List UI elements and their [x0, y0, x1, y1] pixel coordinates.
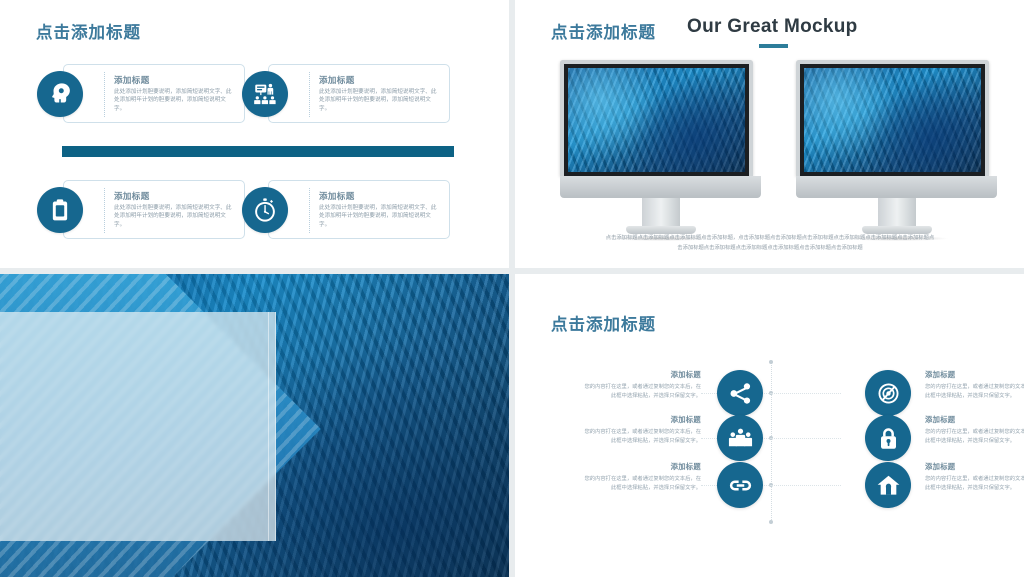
feature-card-body: 此处添加计划胆要说明，添加简短说明文字、此处添加明年计划的胆要说明，添加简短说明…: [114, 204, 236, 230]
monitor-stand-foot: [626, 226, 696, 234]
feature-card-body: 此处添加计划胆要说明，添加简短说明文字、此处添加明年计划的胆要说明，添加简短说明…: [114, 88, 236, 114]
feature-card-title: 添加标题: [319, 74, 441, 86]
monitor-chin: [560, 176, 761, 198]
desktop-monitor-right: [796, 60, 997, 241]
feature-card-1[interactable]: 添加标题 此处添加计划胆要说明，添加简短说明文字、此处添加明年计划的胆要说明，添…: [63, 64, 245, 123]
timeline-connector: [771, 438, 841, 439]
feature-card-title: 添加标题: [114, 190, 236, 202]
heading-underline: [759, 44, 788, 48]
head-idea-icon: [37, 71, 83, 117]
page-title: 点击添加标题: [551, 311, 656, 335]
card-divider: [309, 188, 310, 233]
monitor-screen-image: [568, 68, 745, 172]
feature-card-title: 添加标题: [319, 190, 441, 202]
page-title: 点击添加标题: [36, 19, 141, 43]
lock-icon[interactable]: [865, 415, 911, 461]
timeline-item-title: 添加标题: [925, 370, 1024, 380]
timeline-spine: [771, 362, 772, 522]
desktop-monitor-left: [560, 60, 761, 241]
monitor-stand-neck: [878, 198, 916, 226]
presentation-training-icon: [242, 71, 288, 117]
monitor-screen-image: [804, 68, 981, 172]
monitor-stand-foot: [862, 226, 932, 234]
clipboard-icon: [37, 187, 83, 233]
link-chain-icon[interactable]: [717, 462, 763, 508]
monitor-bezel: [796, 60, 989, 176]
feature-card-2[interactable]: 添加标题 此处添加计划胆要说明，添加简短说明文字、此处添加明年计划的胆要说明，添…: [268, 64, 450, 123]
target-icon[interactable]: [865, 370, 911, 416]
timeline-item-body: 您的内容打在这里，或者通过复制您的文本后，在此框中选择粘贴，并选择只保留文字。: [583, 475, 701, 493]
timeline-item-body: 您的内容打在这里，或者通过复制您的文本后，在此框中选择粘贴，并选择只保留文字。: [925, 428, 1024, 446]
card-divider: [309, 72, 310, 117]
timeline-item-body: 您的内容打在这里，或者通过复制您的文本后，在此框中选择粘贴，并选择只保留文字。: [583, 428, 701, 446]
mockup-heading: Our Great Mockup: [687, 16, 858, 38]
timeline-item-title: 添加标题: [583, 462, 701, 472]
slide-features: 点击添加标题 添加标题 此处添加计划胆要说明，添加简短说明文字、此处添加明年计划…: [0, 0, 509, 268]
timeline-item-2: 添加标题 您的内容打在这里，或者通过复制您的文本后，在此框中选择粘贴，并选择只保…: [925, 370, 1024, 401]
page-title: 点击添加标题: [551, 19, 656, 43]
slide-deck-grid: 点击添加标题 添加标题 此处添加计划胆要说明，添加简短说明文字、此处添加明年计划…: [0, 0, 1024, 577]
mockup-caption: 点击添加标题点击添加标题点击添加标题点击添加标题，点击添加标题点击添加标题点击添…: [605, 234, 935, 254]
timeline-item-5: 添加标题 您的内容打在这里，或者通过复制您的文本后，在此框中选择粘贴，并选择只保…: [583, 462, 701, 493]
slide-section-cover: 04 工作成果 I love you more than I've ever l…: [0, 274, 509, 577]
stopwatch-icon: [242, 187, 288, 233]
timeline-node-top: [769, 360, 773, 364]
timeline-item-title: 添加标题: [925, 462, 1024, 472]
share-icon[interactable]: [717, 370, 763, 416]
timeline-connector: [771, 393, 841, 394]
timeline-connector: [771, 485, 841, 486]
card-divider: [104, 72, 105, 117]
feature-card-3[interactable]: 添加标题 此处添加计划胆要说明，添加简短说明文字、此处添加明年计划的胆要说明，添…: [63, 180, 245, 239]
slide-timeline: 点击添加标题 添加标题 您的内容打在这里，或者通过复制您的文本后，在此框中选择粘…: [515, 274, 1024, 577]
timeline-item-title: 添加标题: [925, 415, 1024, 425]
frosted-panel: [0, 312, 276, 541]
feature-card-body: 此处添加计划胆要说明，添加简短说明文字、此处添加明年计划的胆要说明，添加简短说明…: [319, 88, 441, 114]
timeline-item-title: 添加标题: [583, 370, 701, 380]
monitor-stand-neck: [642, 198, 680, 226]
card-divider: [104, 188, 105, 233]
timeline-item-body: 您的内容打在这里，或者通过复制您的文本后，在此框中选择粘贴，并选择只保留文字。: [583, 383, 701, 401]
feature-card-4[interactable]: 添加标题 此处添加计划胆要说明，添加简短说明文字、此处添加明年计划的胆要说明，添…: [268, 180, 450, 239]
timeline-item-4: 添加标题 您的内容打在这里，或者通过复制您的文本后，在此框中选择粘贴，并选择只保…: [925, 415, 1024, 446]
people-group-icon[interactable]: [717, 415, 763, 461]
timeline-item-1: 添加标题 您的内容打在这里，或者通过复制您的文本后，在此框中选择粘贴，并选择只保…: [583, 370, 701, 401]
timeline-item-title: 添加标题: [583, 415, 701, 425]
monitor-chin: [796, 176, 997, 198]
timeline-node-bottom: [769, 520, 773, 524]
panel-edge-line: [268, 312, 269, 541]
timeline-item-3: 添加标题 您的内容打在这里，或者通过复制您的文本后，在此框中选择粘贴，并选择只保…: [583, 415, 701, 446]
home-icon[interactable]: [865, 462, 911, 508]
timeline-item-6: 添加标题 您的内容打在这里，或者通过复制您的文本后，在此框中选择粘贴，并选择只保…: [925, 462, 1024, 493]
section-divider-bar: [62, 146, 454, 157]
monitor-bezel: [560, 60, 753, 176]
feature-card-title: 添加标题: [114, 74, 236, 86]
timeline-item-body: 您的内容打在这里，或者通过复制您的文本后，在此框中选择粘贴，并选择只保留文字。: [925, 383, 1024, 401]
feature-card-body: 此处添加计划胆要说明，添加简短说明文字、此处添加明年计划的胆要说明，添加简短说明…: [319, 204, 441, 230]
timeline-item-body: 您的内容打在这里，或者通过复制您的文本后，在此框中选择粘贴，并选择只保留文字。: [925, 475, 1024, 493]
slide-mockup: 点击添加标题 Our Great Mockup 点击添加标题点击添加标题点击添加…: [515, 0, 1024, 268]
